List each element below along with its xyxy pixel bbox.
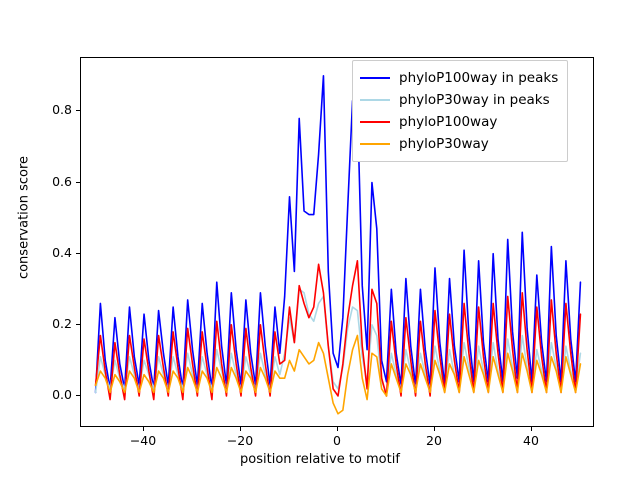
- y-tick-mark: [76, 324, 80, 325]
- y-axis-label: conservation score: [17, 98, 32, 338]
- legend-entry: phyloP100way: [360, 111, 558, 133]
- y-tick-label: 0.0: [20, 387, 72, 402]
- x-tick-mark: [337, 427, 338, 431]
- legend-entry: phyloP30way in peaks: [360, 89, 558, 111]
- x-tick-label: 20: [404, 433, 464, 448]
- y-tick-mark: [76, 395, 80, 396]
- legend-color-swatch: [360, 99, 390, 101]
- chart-legend: phyloP100way in peaksphyloP30way in peak…: [352, 60, 568, 162]
- legend-label: phyloP30way in peaks: [399, 92, 550, 108]
- x-tick-mark: [434, 427, 435, 431]
- y-tick-mark: [76, 253, 80, 254]
- legend-entry: phyloP100way in peaks: [360, 67, 558, 89]
- x-tick-label: 40: [501, 433, 561, 448]
- legend-entry: phyloP30way: [360, 133, 558, 155]
- y-tick-mark: [76, 110, 80, 111]
- x-tick-mark: [143, 427, 144, 431]
- legend-label: phyloP30way: [399, 136, 489, 152]
- legend-label: phyloP100way: [399, 114, 497, 130]
- y-tick-mark: [76, 182, 80, 183]
- x-tick-label: 0: [307, 433, 367, 448]
- x-tick-label: −20: [210, 433, 270, 448]
- legend-color-swatch: [360, 121, 390, 123]
- legend-color-swatch: [360, 77, 390, 79]
- x-tick-mark: [240, 427, 241, 431]
- x-tick-label: −40: [113, 433, 173, 448]
- matplotlib-figure: 0.00.20.40.60.8 −40−2002040 position rel…: [0, 0, 640, 480]
- x-tick-mark: [531, 427, 532, 431]
- x-axis-label: position relative to motif: [0, 452, 640, 467]
- legend-label: phyloP100way in peaks: [399, 70, 558, 86]
- legend-color-swatch: [360, 143, 390, 145]
